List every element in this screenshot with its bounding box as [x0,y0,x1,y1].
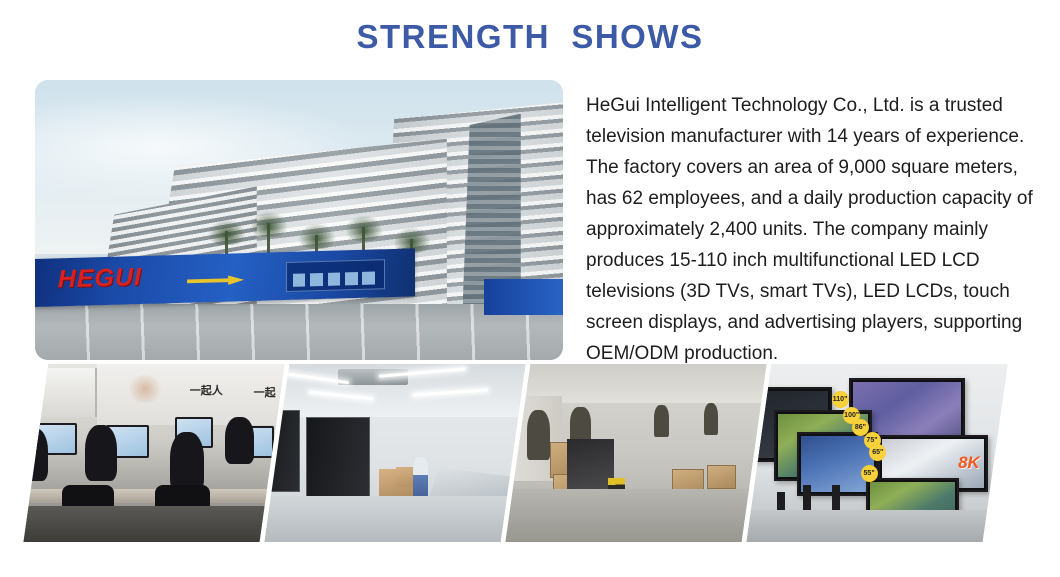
banner-side-panel [484,279,563,315]
warehouse-worker [527,410,550,460]
office-worker [170,432,205,493]
warehouse-floor [505,489,766,542]
office-floor [23,506,284,542]
strength-shows-section: STRENGTH SHOWS HEGUI [0,0,1060,577]
warehouse-photo [505,364,766,542]
banner-brand-text: HEGUI [58,263,142,294]
badge-8k: 8K [958,453,980,473]
carton-box [707,465,736,488]
showroom-photo: 8K 110" 100" 86" 75" 65" 55" [746,364,1007,542]
thumbnail-office[interactable]: 一起人 一起 [23,364,284,542]
banner-info-panel [286,260,385,292]
office-worker [225,417,254,463]
thumbnail-showroom[interactable]: 8K 110" 100" 86" 75" 65" 55" [746,364,1007,542]
thumbnail-warehouse[interactable] [505,364,766,542]
office-window [23,368,96,418]
page-title: STRENGTH SHOWS [0,18,1060,56]
wall-logo-icon [126,375,164,403]
arrow-right-icon [187,275,244,286]
size-tag-icon: 110" [832,391,849,408]
wall-text-glyph: 一起人 [190,382,223,398]
office-worker [23,428,47,481]
warehouse-worker [654,405,669,437]
thumbnail-production-line[interactable] [264,364,525,542]
headquarters-building-photo: HEGUI [35,80,563,360]
equipment-rack [306,417,370,499]
size-tag-icon: 55" [861,465,878,482]
plant-floor [264,496,525,542]
production-worker [413,457,428,496]
packing-machine [567,439,613,492]
wall-text-glyph: 一起 [254,384,276,400]
building-glass-strip [463,114,521,304]
showroom-floor [746,510,1007,542]
office-photo: 一起人 一起 [23,364,284,542]
production-line-photo [264,364,525,542]
hero-row: HEGUI HeGui Intelligent Technology Co., … [0,80,1060,360]
warehouse-worker [704,403,719,435]
company-description: HeGui Intelligent Technology Co., Ltd. i… [586,90,1050,369]
facility-thumbnail-strip: 一起人 一起 [0,364,1060,549]
office-worker [85,425,117,482]
